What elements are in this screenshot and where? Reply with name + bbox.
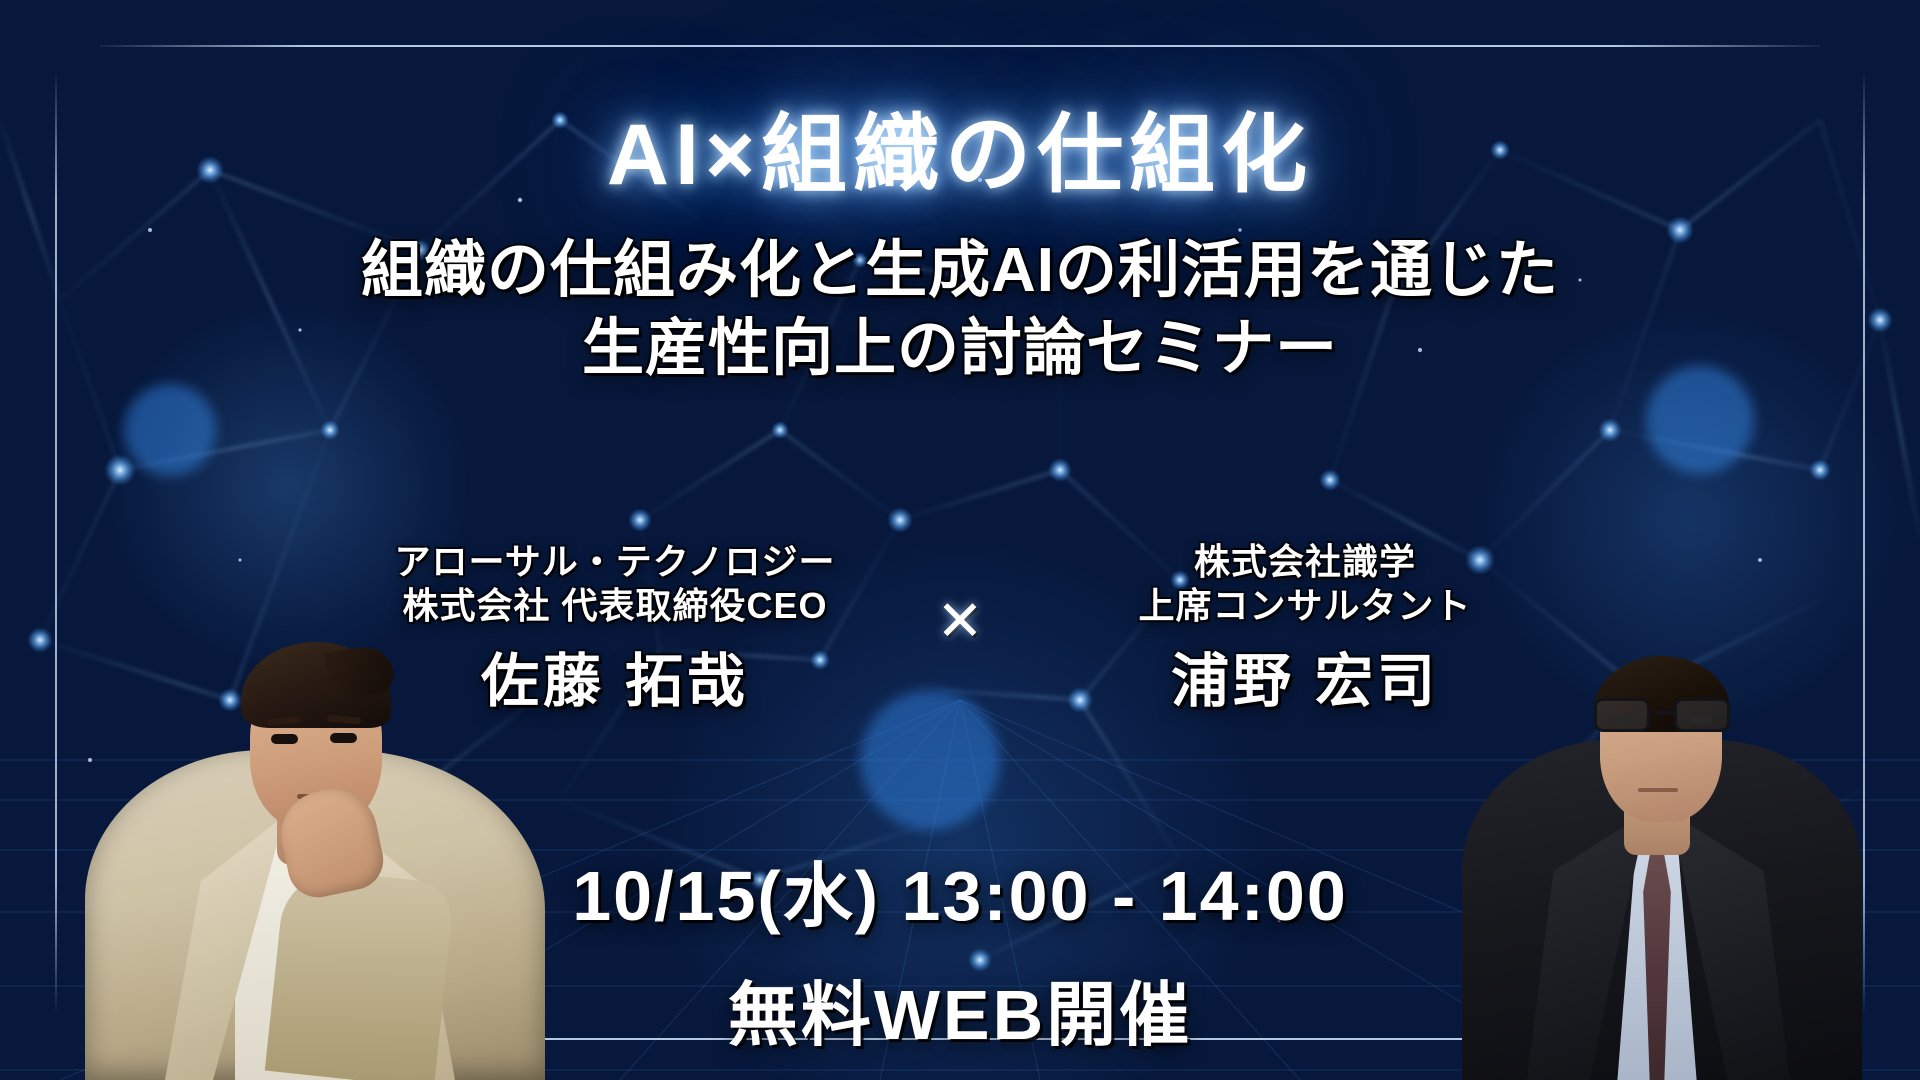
speaker-left-org-line2: 株式会社 代表取締役CEO <box>402 585 827 626</box>
speaker-left: アローサル・テクノロジー 株式会社 代表取締役CEO 佐藤 拓哉 <box>325 540 905 718</box>
cross-icon: ✕ <box>905 588 1015 654</box>
speaker-left-name: 佐藤 拓哉 <box>325 634 905 718</box>
event-details: 10/15(水) 13:00 - 14:00 無料WEB開催 <box>0 840 1920 1060</box>
event-mode: 無料WEB開催 <box>0 959 1920 1060</box>
speaker-right-name: 浦野 宏司 <box>1015 634 1595 718</box>
speaker-left-org: アローサル・テクノロジー 株式会社 代表取締役CEO <box>325 540 905 628</box>
speaker-credentials: アローサル・テクノロジー 株式会社 代表取締役CEO 佐藤 拓哉 ✕ 株式会社識… <box>0 540 1920 718</box>
speaker-right-org-line1: 株式会社識学 <box>1194 541 1416 582</box>
speaker-right: 株式会社識学 上席コンサルタント 浦野 宏司 <box>1015 540 1595 718</box>
speaker-left-org-line1: アローサル・テクノロジー <box>394 541 835 582</box>
event-date: 10/15(水) 13:00 - 14:00 <box>0 840 1920 941</box>
speaker-right-org-line2: 上席コンサルタント <box>1138 585 1471 626</box>
seminar-banner: AI×組織の仕組化 組織の仕組み化と生成AIの利活用を通じた 生産性向上の討論セ… <box>0 0 1920 1080</box>
banner-title: AI×組織の仕組化 <box>0 84 1920 209</box>
banner-subtitle: 組織の仕組み化と生成AIの利活用を通じた 生産性向上の討論セミナー <box>0 232 1920 388</box>
subtitle-line-2: 生産性向上の討論セミナー <box>0 310 1920 388</box>
speaker-right-org: 株式会社識学 上席コンサルタント <box>1015 540 1595 628</box>
subtitle-line-1: 組織の仕組み化と生成AIの利活用を通じた <box>361 236 1559 305</box>
banner-content: AI×組織の仕組化 組織の仕組み化と生成AIの利活用を通じた 生産性向上の討論セ… <box>0 0 1920 1080</box>
